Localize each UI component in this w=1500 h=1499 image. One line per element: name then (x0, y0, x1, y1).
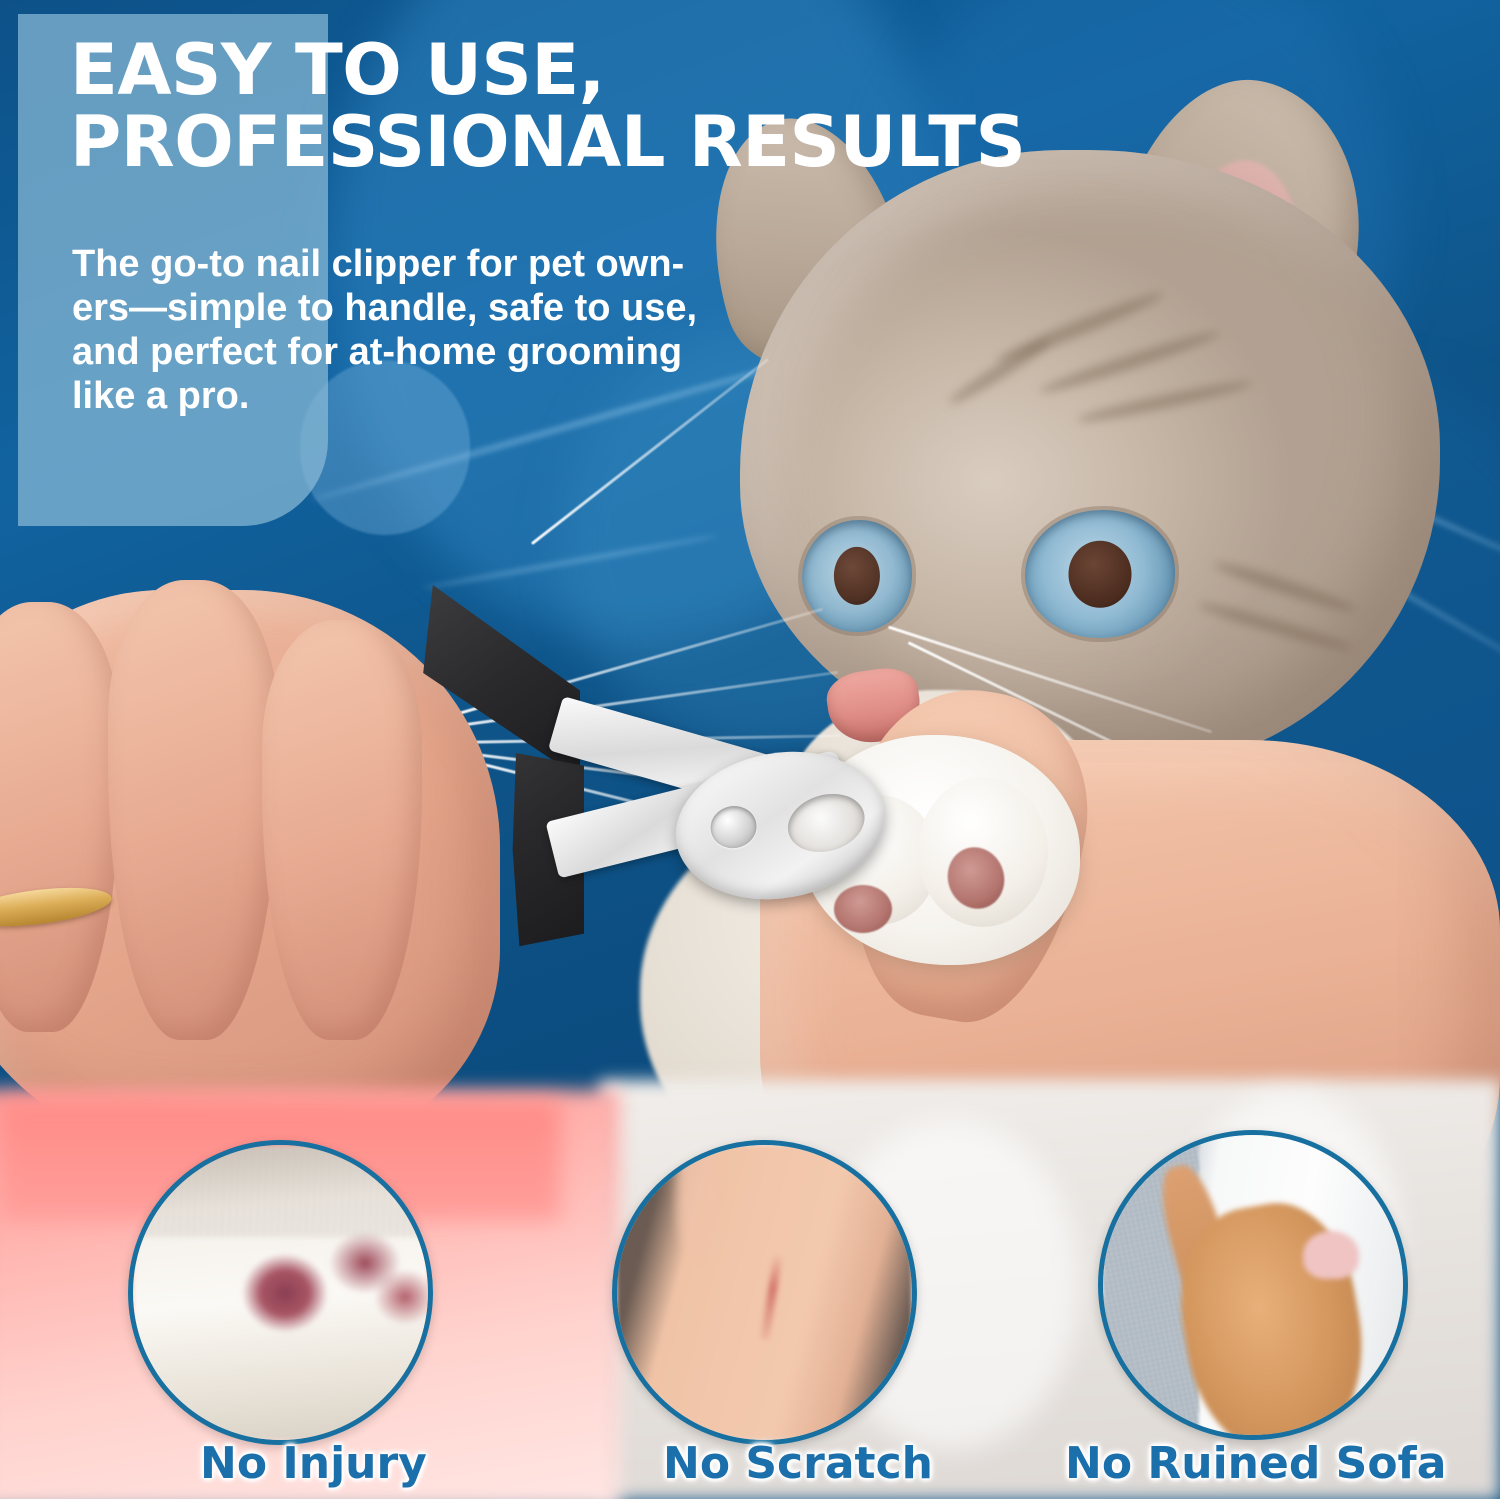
page-title: EASY TO USE, PROFESSIONAL RESULTS (70, 34, 1300, 178)
clipper-rivet (707, 802, 760, 851)
subcopy-line-3: and perfect for at-home grooming (72, 330, 882, 374)
benefit-inset-no-injury (128, 1140, 433, 1445)
tabby-stripe (1076, 376, 1255, 426)
benefit-caption-no-ruined-sofa: No Ruined Sofa (1065, 1440, 1446, 1488)
tabby-stripe (946, 334, 1055, 409)
finger (262, 620, 422, 1040)
subcopy-line-1: The go-to nail clipper for pet own- (72, 242, 882, 286)
cat-pupil (1069, 541, 1132, 608)
injured-white-paw-photo (133, 1145, 428, 1440)
white-fur-texture (133, 1145, 433, 1237)
headline-line-1: EASY TO USE, (70, 29, 605, 111)
tabby-stripe (1212, 557, 1359, 617)
orange-cat-ear (1303, 1231, 1359, 1279)
pet-nail-clipper (420, 585, 890, 925)
benefit-caption-no-injury: No Injury (200, 1440, 427, 1488)
benefit-inset-no-ruined-sofa (1098, 1130, 1408, 1440)
clipper-cutting-hole (781, 785, 871, 860)
subcopy-line-2: ers—simple to handle, safe to use, (72, 286, 882, 330)
finger (108, 580, 278, 1040)
page-subtitle: The go-to nail clipper for pet own- ers—… (72, 242, 882, 418)
headline-line-2: PROFESSIONAL RESULTS (70, 106, 1300, 178)
scratch-mark (760, 1253, 783, 1341)
benefit-caption-no-scratch: No Scratch (663, 1440, 933, 1488)
benefit-inset-no-scratch (612, 1140, 917, 1445)
orange-cat-climbing-window-screen-photo (1103, 1135, 1403, 1435)
product-infographic: EASY TO USE, PROFESSIONAL RESULTS The go… (0, 0, 1500, 1499)
cat-right-eye (1025, 510, 1175, 638)
knuckle-highlight (677, 1140, 717, 1255)
scratched-human-hand-photo (617, 1145, 912, 1440)
finger (0, 602, 120, 1032)
subcopy-line-4: like a pro. (72, 374, 882, 418)
